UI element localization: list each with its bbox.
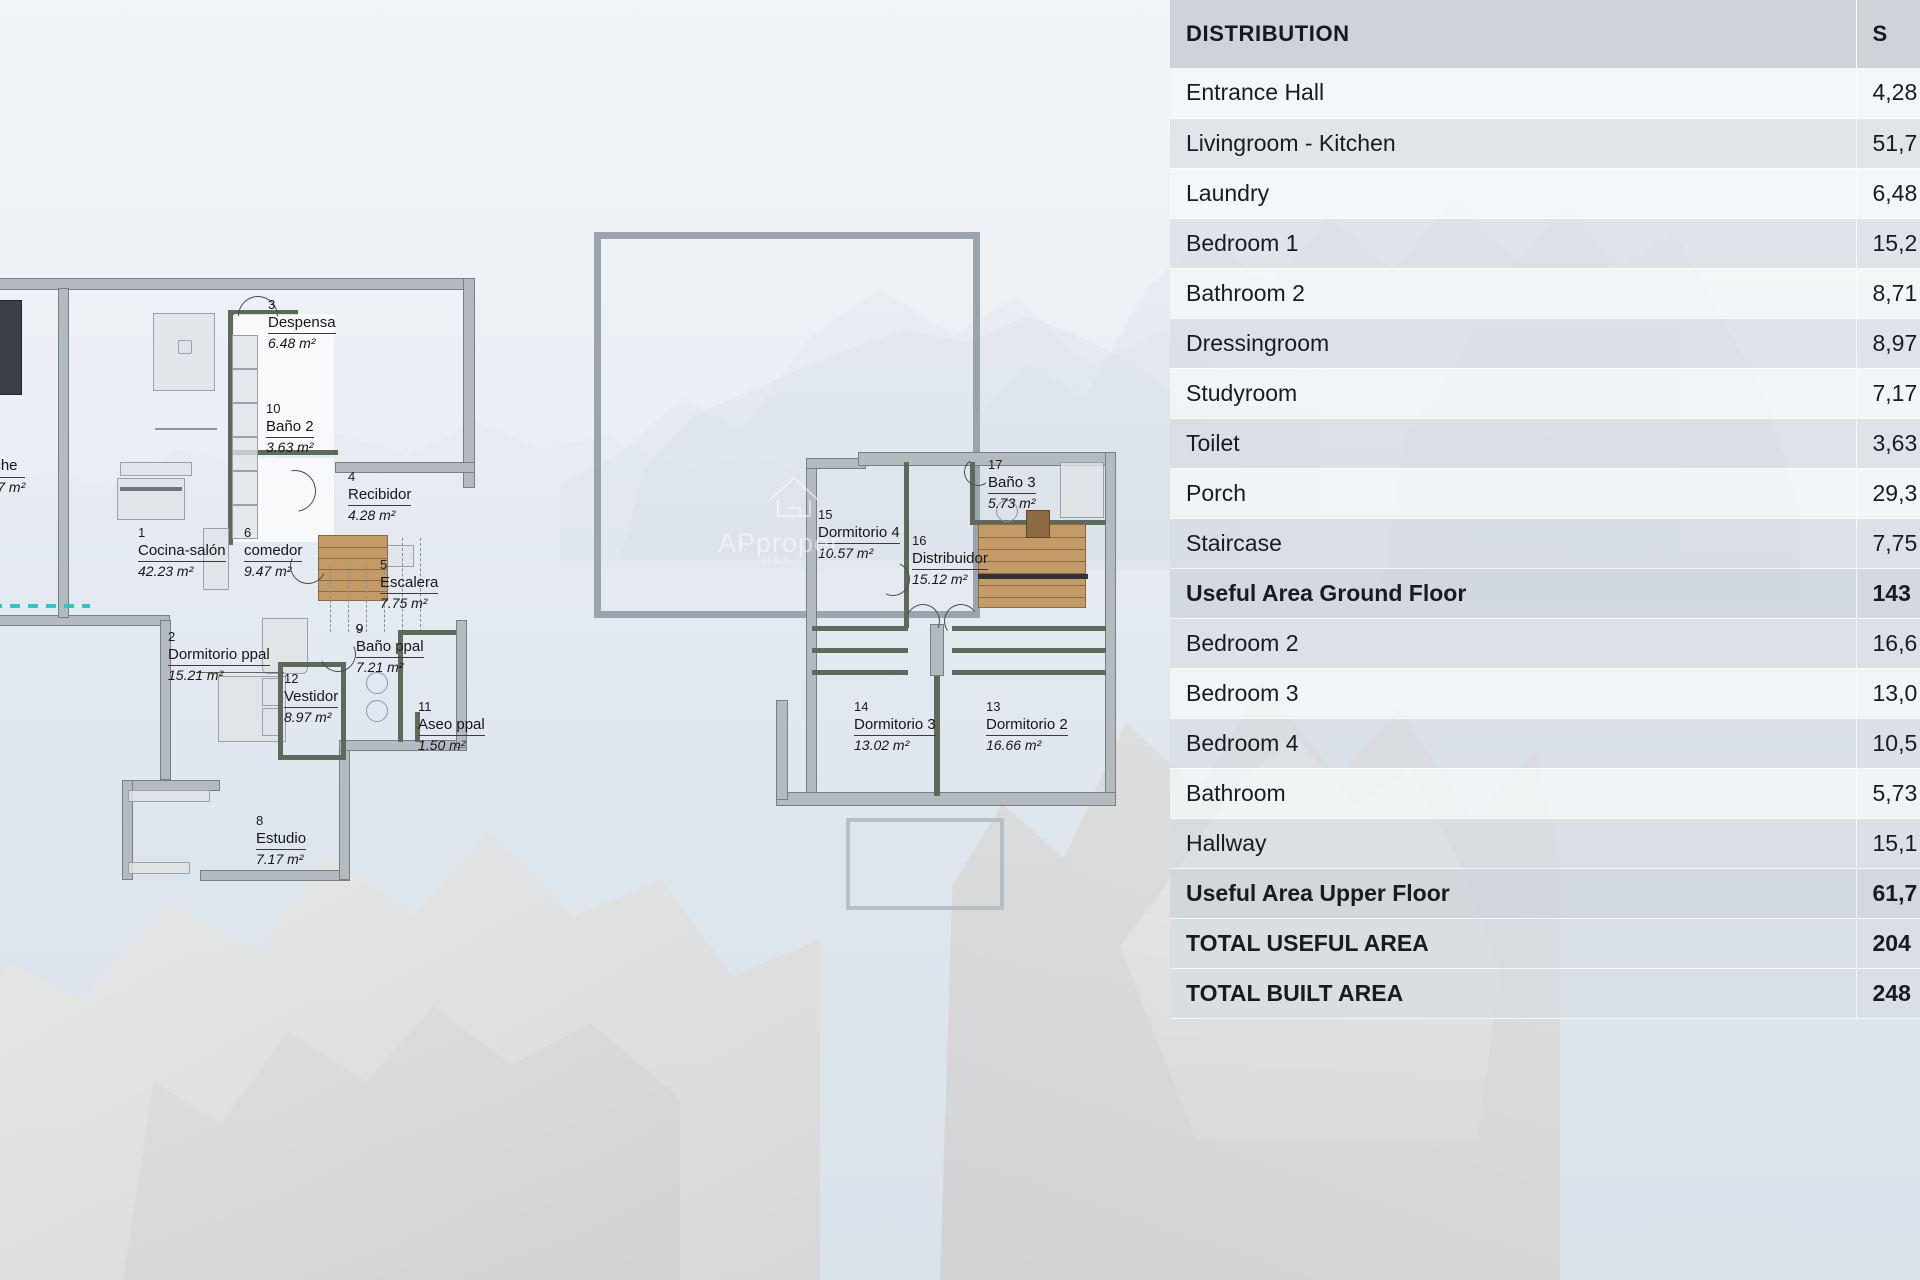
- label-name: Baño 2: [266, 417, 314, 439]
- label-area: 1.50 m²: [418, 736, 485, 755]
- table-cell-name: Livingroom - Kitchen: [1170, 118, 1856, 168]
- gf-dressing-wall-left: [278, 662, 283, 760]
- label-name: Baño ppal: [356, 637, 424, 659]
- label-number: 12: [284, 672, 338, 687]
- distribution-table-panel: DISTRIBUTION S Entrance Hall4,28Livingro…: [1170, 0, 1920, 1280]
- uf-wall-hall-right-c: [952, 670, 1106, 675]
- gf-staircase: [318, 535, 388, 601]
- gf-sofa-back: [120, 487, 182, 491]
- gf-sink-basin-2: [366, 700, 388, 722]
- table-body: Entrance Hall4,28Livingroom - Kitchen51,…: [1170, 68, 1920, 1018]
- table-head: DISTRIBUTION S: [1170, 0, 1920, 68]
- label-name: Recibidor: [348, 485, 411, 507]
- gf-counter-line: [155, 428, 217, 430]
- uf-lower-terrace-outline: [846, 818, 1004, 910]
- table-cell-name: TOTAL BUILT AREA: [1170, 968, 1856, 1018]
- label-name: Dormitorio 3: [854, 715, 936, 737]
- label-name: comedor: [244, 541, 302, 563]
- label-name: Estudio: [256, 829, 306, 851]
- label-area: 6.48 m²: [268, 334, 336, 353]
- gf-dining-table: [0, 300, 22, 395]
- label-number: 6: [244, 526, 302, 541]
- label-name: Cocina-salón: [138, 541, 226, 563]
- table-cell-value: 4,28: [1856, 68, 1920, 118]
- label-area: 29.37 m²: [0, 478, 25, 497]
- table-header-surface: S: [1856, 0, 1920, 68]
- label-number: 14: [854, 700, 936, 715]
- table-row: Bathroom 28,71: [1170, 268, 1920, 318]
- table-cell-name: Laundry: [1170, 168, 1856, 218]
- uf-wall-bed4-right: [904, 462, 909, 628]
- table-cell-name: Bedroom 2: [1170, 618, 1856, 668]
- uf-wall-bed4-bottom: [812, 626, 908, 631]
- table-cell-name: Bathroom 2: [1170, 268, 1856, 318]
- gf-room-label-aseo-ppal: 11 Aseo ppal 1.50 m²: [418, 700, 485, 755]
- label-area: 15.12 m²: [912, 570, 988, 589]
- table-cell-name: Toilet: [1170, 418, 1856, 468]
- table-header-row: DISTRIBUTION S: [1170, 0, 1920, 68]
- table-row: Porch29,3: [1170, 468, 1920, 518]
- table-row: Studyroom7,17: [1170, 368, 1920, 418]
- label-name: Dormitorio 2: [986, 715, 1068, 737]
- table-row: Hallway15,1: [1170, 818, 1920, 868]
- table-row: Useful Area Ground Floor143: [1170, 568, 1920, 618]
- uf-shower-tray: [1026, 510, 1050, 538]
- gf-room-label-comedor: 6 comedor 9.47 m²: [244, 526, 302, 581]
- label-number: 3: [268, 298, 336, 313]
- gf-room-label-vestidor: 12 Vestidor 8.97 m²: [284, 672, 338, 727]
- table-header-distribution: DISTRIBUTION: [1170, 0, 1856, 68]
- gf-cabinet-5: [232, 471, 258, 505]
- gf-bath-door-icon: [315, 631, 361, 677]
- gf-dressing-wall-bottom: [278, 755, 346, 760]
- gf-sink-icon: [178, 340, 192, 354]
- gf-stair-dash-2: [348, 566, 349, 632]
- uf-wall-hall-a: [812, 648, 908, 653]
- label-number: 16: [912, 534, 988, 549]
- table-cell-value: 248: [1856, 968, 1920, 1018]
- gf-room-label-bano2: 10 Baño 2 3.63 m²: [266, 402, 314, 457]
- table-cell-value: 29,3: [1856, 468, 1920, 518]
- table-cell-name: Useful Area Upper Floor: [1170, 868, 1856, 918]
- table-cell-value: 7,75: [1856, 518, 1920, 568]
- uf-room-label-bano3: 17 Baño 3 5.73 m²: [988, 458, 1036, 513]
- label-number: 1: [138, 526, 226, 541]
- gf-cabinet-1: [232, 335, 258, 369]
- gf-room-label-bano-ppal: 9 Baño ppal 7.21 m²: [356, 622, 424, 677]
- gf-cabinet-4: [232, 437, 258, 471]
- label-area: 7.75 m²: [380, 594, 438, 613]
- uf-room-label-distribuidor: 16 Distribuidor 15.12 m²: [912, 534, 988, 589]
- uf-wall-hall-b: [812, 670, 908, 675]
- table-cell-name: Bedroom 3: [1170, 668, 1856, 718]
- table-cell-value: 204: [1856, 918, 1920, 968]
- label-area: 3.63 m²: [266, 438, 314, 457]
- gf-wall-right-upper: [463, 278, 475, 488]
- label-name: Aseo ppal: [418, 715, 485, 737]
- uf-wall-hall-right-b: [952, 648, 1106, 653]
- table-cell-name: Useful Area Ground Floor: [1170, 568, 1856, 618]
- label-number: 17: [988, 458, 1036, 473]
- table-row: Staircase7,75: [1170, 518, 1920, 568]
- uf-wall-bottom-left-stub: [776, 700, 788, 800]
- gf-wall-right-lower: [339, 740, 350, 880]
- table-cell-value: 6,48: [1856, 168, 1920, 218]
- gf-room-label-cocina-salon: 1 Cocina-salón 42.23 m²: [138, 526, 226, 581]
- table-cell-name: Hallway: [1170, 818, 1856, 868]
- label-name: Baño 3: [988, 473, 1036, 495]
- table-cell-name: Porch: [1170, 468, 1856, 518]
- gf-room-label-dormitorio-ppal: 2 Dormitorio ppal 15.21 m²: [168, 630, 270, 685]
- uf-stair-rail: [978, 574, 1088, 579]
- gf-study-desk: [128, 790, 210, 802]
- table-cell-value: 8,71: [1856, 268, 1920, 318]
- table-row: Bedroom 313,0: [1170, 668, 1920, 718]
- table-cell-name: Entrance Hall: [1170, 68, 1856, 118]
- table-cell-name: Dressingroom: [1170, 318, 1856, 368]
- table-cell-name: Bedroom 1: [1170, 218, 1856, 268]
- uf-room-label-dormitorio3: 14 Dormitorio 3 13.02 m²: [854, 700, 936, 755]
- label-number: 15: [818, 508, 900, 523]
- table-cell-value: 15,2: [1856, 218, 1920, 268]
- table-row: Livingroom - Kitchen51,7: [1170, 118, 1920, 168]
- table-row: Toilet3,63: [1170, 418, 1920, 468]
- label-name: Despensa: [268, 313, 336, 335]
- uf-room-label-dormitorio2: 13 Dormitorio 2 16.66 m²: [986, 700, 1068, 755]
- label-name: Escalera: [380, 573, 438, 595]
- label-area: 16.66 m²: [986, 736, 1068, 755]
- table-cell-value: 3,63: [1856, 418, 1920, 468]
- gf-porch-axis-line: [0, 604, 90, 608]
- gf-dressing-wall-right: [341, 662, 346, 760]
- table-cell-value: 5,73: [1856, 768, 1920, 818]
- table-cell-name: TOTAL USEFUL AREA: [1170, 918, 1856, 968]
- table-cell-value: 15,1: [1856, 818, 1920, 868]
- gf-cabinet-2: [232, 369, 258, 403]
- table-row: Bedroom 115,2: [1170, 218, 1920, 268]
- gf-cabinet-3: [232, 403, 258, 437]
- gf-sofa: [117, 478, 185, 520]
- uf-bathtub: [1060, 462, 1104, 518]
- label-number: 4: [348, 470, 411, 485]
- table-row: Dressingroom8,97: [1170, 318, 1920, 368]
- uf-wall-bottom: [776, 792, 1116, 806]
- table-row: Laundry6,48: [1170, 168, 1920, 218]
- label-number: 2: [168, 630, 270, 645]
- table-row: Bedroom 216,6: [1170, 618, 1920, 668]
- table-cell-value: 51,7: [1856, 118, 1920, 168]
- label-area: 5.73 m²: [988, 494, 1036, 513]
- uf-room-label-dormitorio4: 15 Dormitorio 4 10.57 m²: [818, 508, 900, 563]
- label-name: Dormitorio 4: [818, 523, 900, 545]
- label-name: Porche: [0, 456, 25, 478]
- label-number: 13: [986, 700, 1068, 715]
- gf-room-label-estudio: 8 Estudio 7.17 m²: [256, 814, 306, 869]
- gf-room-label-escalera: 5 Escalera 7.75 m²: [380, 558, 438, 613]
- gf-stair-dash-1: [330, 566, 331, 632]
- gf-room-label-recibidor: 4 Recibidor 4.28 m²: [348, 470, 411, 525]
- distribution-table: DISTRIBUTION S Entrance Hall4,28Livingro…: [1170, 0, 1920, 1019]
- table-cell-value: 10,5: [1856, 718, 1920, 768]
- label-area: 42.23 m²: [138, 562, 226, 581]
- label-number: 10: [266, 402, 314, 417]
- label-area: 15.21 m²: [168, 666, 270, 685]
- label-area: 4.28 m²: [348, 506, 411, 525]
- gf-wall-study-bottom: [200, 870, 350, 881]
- label-area: 13.02 m²: [854, 736, 936, 755]
- table-cell-value: 8,97: [1856, 318, 1920, 368]
- label-number: 8: [256, 814, 306, 829]
- table-cell-name: Bedroom 4: [1170, 718, 1856, 768]
- label-name: Dormitorio ppal: [168, 645, 270, 667]
- label-name: Vestidor: [284, 687, 338, 709]
- label-number: 11: [418, 700, 485, 715]
- gf-wall-mid-left: [0, 615, 170, 626]
- gf-room-label-despensa: 3 Despensa 6.48 m²: [268, 298, 336, 353]
- table-cell-value: 7,17: [1856, 368, 1920, 418]
- label-area: 9.47 m²: [244, 562, 302, 581]
- table-cell-value: 61,7: [1856, 868, 1920, 918]
- label-area: 7.21 m²: [356, 658, 424, 677]
- gf-wall-top: [0, 278, 475, 290]
- table-row: Bathroom5,73: [1170, 768, 1920, 818]
- table-cell-name: Staircase: [1170, 518, 1856, 568]
- table-cell-name: Studyroom: [1170, 368, 1856, 418]
- table-cell-name: Bathroom: [1170, 768, 1856, 818]
- label-area: 8.97 m²: [284, 708, 338, 727]
- gf-study-shelf: [128, 862, 190, 874]
- label-number: 5: [380, 558, 438, 573]
- table-row: Useful Area Upper Floor61,7: [1170, 868, 1920, 918]
- table-row: Bedroom 410,5: [1170, 718, 1920, 768]
- table-row: TOTAL BUILT AREA248: [1170, 968, 1920, 1018]
- table-cell-value: 16,6: [1856, 618, 1920, 668]
- table-cell-value: 143: [1856, 568, 1920, 618]
- table-row: Entrance Hall4,28: [1170, 68, 1920, 118]
- label-number: 9: [356, 622, 424, 637]
- gf-wall-interior-vert: [58, 288, 69, 618]
- uf-wall-right: [1105, 452, 1116, 803]
- table-cell-value: 13,0: [1856, 668, 1920, 718]
- table-row: TOTAL USEFUL AREA204: [1170, 918, 1920, 968]
- label-area: 7.17 m²: [256, 850, 306, 869]
- label-area: 10.57 m²: [818, 544, 900, 563]
- label-name: Distribuidor: [912, 549, 988, 571]
- uf-wall-top-left: [806, 458, 866, 469]
- gf-room-label-porche: Porche 29.37 m²: [0, 456, 25, 496]
- gf-console-table: [120, 462, 192, 476]
